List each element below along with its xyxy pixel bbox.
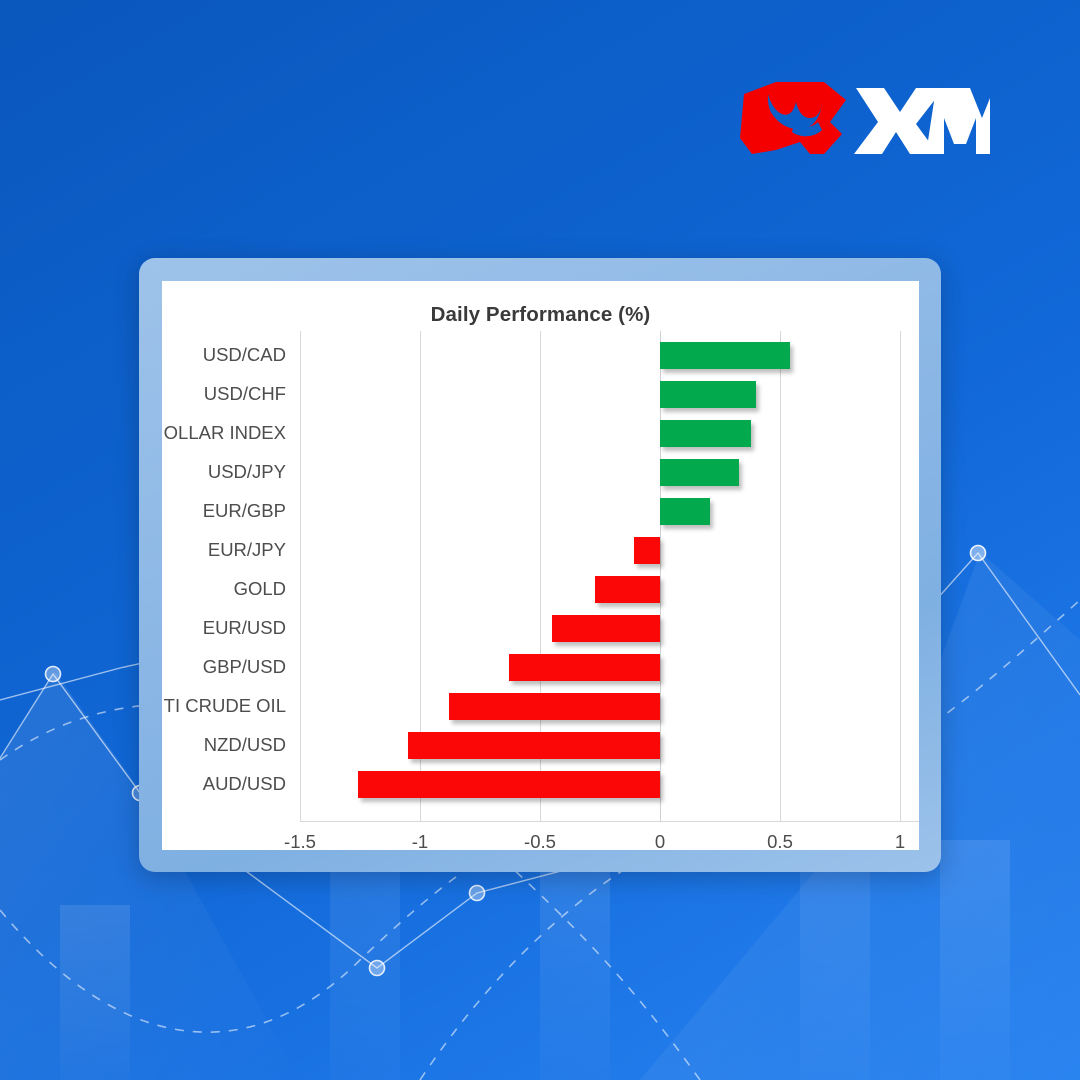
plot-area: USD/CADUSD/CHFOLLAR INDEXUSD/JPYEUR/GBPE…	[300, 331, 919, 821]
category-label: EUR/GBP	[203, 500, 286, 522]
category-label: GBP/USD	[203, 656, 286, 678]
category-label-clip: USD/CHF	[162, 375, 286, 414]
category-label-clip: EUR/GBP	[162, 492, 286, 531]
bar	[634, 537, 660, 564]
chart-plot-panel: Daily Performance (%) USD/CADUSD/CHFOLLA…	[162, 281, 919, 850]
category-label-clip: NZD/USD	[162, 726, 286, 765]
category-label: EUR/USD	[203, 617, 286, 639]
bar-row: EUR/JPY	[300, 531, 919, 570]
category-label: USD/CAD	[203, 344, 286, 366]
category-label: USD/JPY	[208, 461, 286, 483]
category-label-clip: USD/JPY	[162, 453, 286, 492]
category-label: EUR/JPY	[208, 539, 286, 561]
xm-wordmark	[854, 88, 990, 154]
bar	[358, 771, 660, 798]
bar-row: AUD/USD	[300, 765, 919, 804]
category-label: GOLD	[234, 578, 286, 600]
bar	[552, 615, 660, 642]
bar-row: USD/CAD	[300, 336, 919, 375]
x-tick-label: 1	[895, 831, 905, 850]
bar	[509, 654, 660, 681]
bull-head-icon	[740, 82, 846, 154]
x-tick-label: -1	[412, 831, 428, 850]
x-tick-label: -1.5	[284, 831, 316, 850]
category-label-clip: OLLAR INDEX	[162, 414, 286, 453]
category-label-clip: TI CRUDE OIL	[162, 687, 286, 726]
category-label-clip: EUR/JPY	[162, 531, 286, 570]
category-label-clip: GBP/USD	[162, 648, 286, 687]
bar-row: GBP/USD	[300, 648, 919, 687]
bar	[660, 342, 790, 369]
x-tick-label: -0.5	[524, 831, 556, 850]
category-label: TI CRUDE OIL	[164, 695, 286, 717]
bar	[408, 732, 660, 759]
bar-row: USD/CHF	[300, 375, 919, 414]
x-tick-label: 0.5	[767, 831, 793, 850]
bar-row: EUR/GBP	[300, 492, 919, 531]
bar	[660, 420, 751, 447]
bar-row: GOLD	[300, 570, 919, 609]
bar-row: EUR/USD	[300, 609, 919, 648]
category-label-clip: USD/CAD	[162, 336, 286, 375]
bar	[595, 576, 660, 603]
bar	[660, 381, 756, 408]
bar-row: TI CRUDE OIL	[300, 687, 919, 726]
poster-canvas: Daily Performance (%) USD/CADUSD/CHFOLLA…	[0, 0, 1080, 1080]
bar-row: USD/JPY	[300, 453, 919, 492]
chart-card: Daily Performance (%) USD/CADUSD/CHFOLLA…	[139, 258, 941, 872]
axis-baseline	[300, 821, 919, 822]
category-label: USD/CHF	[204, 383, 286, 405]
chart-title: Daily Performance (%)	[162, 303, 919, 327]
category-label-clip: GOLD	[162, 570, 286, 609]
category-label-clip: EUR/USD	[162, 609, 286, 648]
category-label: AUD/USD	[203, 773, 286, 795]
bar	[660, 459, 739, 486]
xm-logo	[738, 76, 990, 160]
bar-row: NZD/USD	[300, 726, 919, 765]
bar	[449, 693, 660, 720]
bar	[660, 498, 710, 525]
category-label-clip: AUD/USD	[162, 765, 286, 804]
bar-row: OLLAR INDEX	[300, 414, 919, 453]
category-label: OLLAR INDEX	[164, 422, 286, 444]
x-tick-label: 0	[655, 831, 665, 850]
category-label: NZD/USD	[204, 734, 286, 756]
